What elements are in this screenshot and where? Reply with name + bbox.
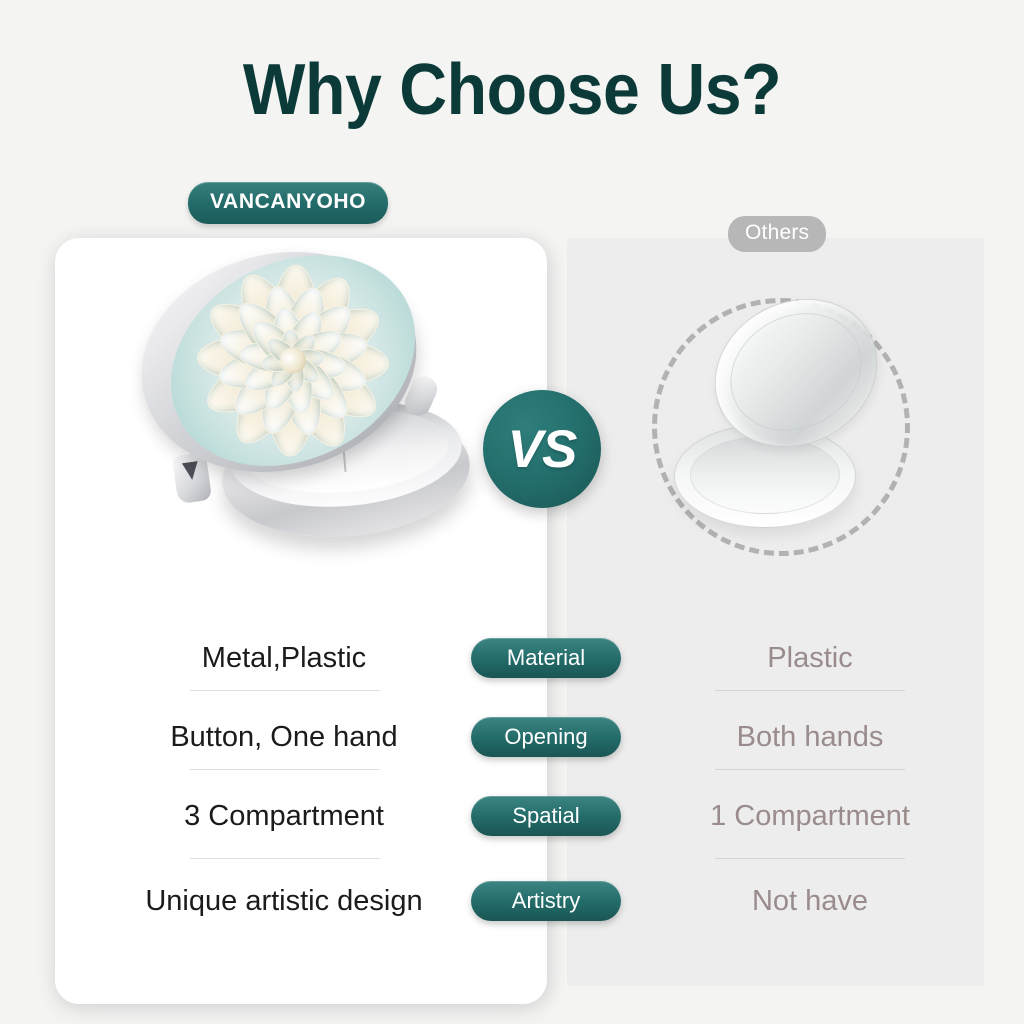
comparison-table: Metal,Plastic Material Plastic Button, O… — [0, 0, 1024, 1024]
attribute-chip: Opening — [471, 717, 621, 757]
vs-label: VS — [508, 419, 577, 480]
other-value: Both hands — [620, 711, 1000, 763]
table-row: Button, One hand Opening Both hands — [0, 711, 1024, 763]
table-row: 3 Compartment Spatial 1 Compartment — [0, 790, 1024, 842]
row-divider-right — [715, 690, 905, 691]
brand-value: 3 Compartment — [96, 790, 472, 842]
row-divider-right — [715, 858, 905, 859]
attribute-chip: Artistry — [471, 881, 621, 921]
row-divider-left — [190, 769, 380, 770]
table-row: Unique artistic design Artistry Not have — [0, 875, 1024, 927]
brand-value: Button, One hand — [96, 711, 472, 763]
row-divider-right — [715, 769, 905, 770]
vs-badge: VS — [483, 390, 601, 508]
attribute-chip: Material — [471, 638, 621, 678]
brand-value: Metal,Plastic — [96, 632, 472, 684]
row-divider-left — [190, 858, 380, 859]
other-value: 1 Compartment — [620, 790, 1000, 842]
row-divider-left — [190, 690, 380, 691]
brand-value: Unique artistic design — [96, 875, 472, 927]
other-value: Plastic — [620, 632, 1000, 684]
infographic-canvas: Why Choose Us? VANCANYOHO Others — [0, 0, 1024, 1024]
attribute-chip: Spatial — [471, 796, 621, 836]
table-row: Metal,Plastic Material Plastic — [0, 632, 1024, 684]
other-value: Not have — [620, 875, 1000, 927]
